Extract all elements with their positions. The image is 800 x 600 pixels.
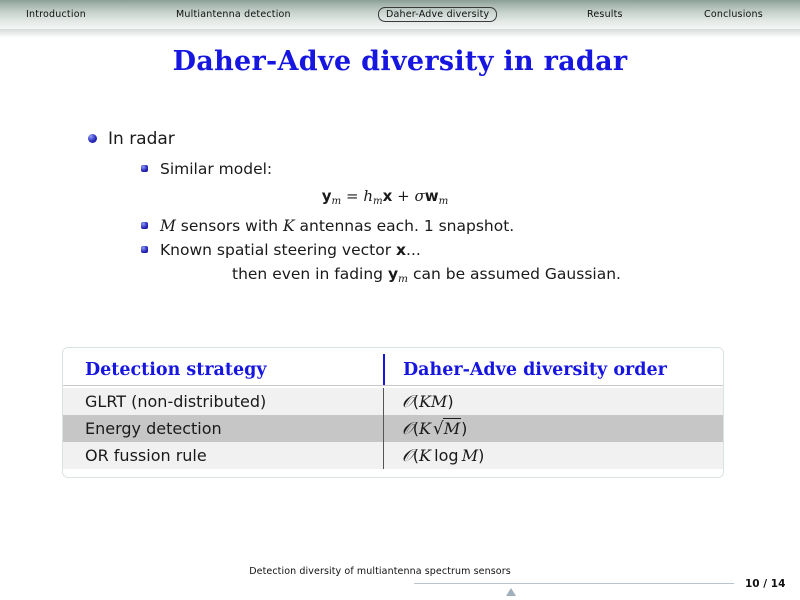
equation-lhs-var: y — [322, 187, 332, 205]
slide-content: In radar Similar model: ym = hmx + σwm M… — [0, 128, 800, 290]
sensors-mid-text: sensors with — [176, 217, 283, 235]
sensors-K-symbol: K — [283, 217, 295, 235]
continuation-pre-text: then even in fading — [232, 265, 388, 283]
table-row: OR fussion rule 𝒪(K log M) — [63, 442, 723, 469]
table-cell-strategy: GLRT (non-distributed) — [63, 392, 383, 411]
table-cell-strategy: Energy detection — [63, 419, 383, 438]
bullet-ball-icon — [88, 134, 97, 143]
footer-divider — [414, 583, 734, 584]
bullet-square-icon — [141, 246, 148, 253]
footer-subtitle: Detection diversity of multiantenna spec… — [0, 566, 800, 577]
equation-sigma: σ — [414, 187, 424, 205]
equation-lhs-sub: m — [332, 196, 342, 207]
big-o-symbol: 𝒪 — [402, 446, 413, 466]
nav-item-introduction[interactable]: Introduction — [22, 7, 90, 22]
order-paren-close: ) — [447, 392, 453, 411]
order-body: KM — [419, 392, 447, 411]
nav-item-conclusions[interactable]: Conclusions — [700, 7, 767, 22]
continuation-post-text: can be assumed Gaussian. — [408, 265, 621, 283]
nav-triangle-icon[interactable] — [506, 588, 516, 596]
equation-x-var: x — [383, 187, 393, 205]
equation-equals: = — [346, 187, 359, 205]
table-cell-order: 𝒪(K log M) — [384, 446, 723, 466]
order-K-symbol: K — [419, 419, 431, 438]
nav-item-daher-adve-diversity[interactable]: Daher-Adve diversity — [378, 7, 497, 22]
page-number: 10 / 14 — [745, 578, 785, 590]
steering-pre-text: Known spatial steering vector — [160, 241, 396, 259]
sensors-post-text: antennas each. 1 snapshot. — [295, 217, 515, 235]
steering-post-text: ... — [406, 241, 421, 259]
table-row: GLRT (non-distributed) 𝒪(KM) — [63, 388, 723, 415]
diversity-order-table: Detection strategy Daher-Adve diversity … — [62, 347, 724, 478]
order-M-symbol: M — [462, 446, 478, 465]
navigation-bar: Introduction Multiantenna detection Dahe… — [0, 0, 800, 29]
bullet-level1-label: In radar — [108, 129, 175, 149]
sqrt-group: √M — [431, 419, 461, 439]
table-header-diversity-order: Daher-Adve diversity order — [385, 360, 723, 380]
order-log-text: log — [434, 446, 458, 465]
steering-x-symbol: x — [396, 241, 406, 259]
continuation-y-symbol: y — [388, 265, 398, 283]
equation-w-sub: m — [439, 196, 449, 207]
bullet-level2-sensors: M sensors with K antennas each. 1 snapsh… — [0, 216, 800, 237]
nav-item-results[interactable]: Results — [583, 7, 627, 22]
equation-plus: + — [397, 187, 410, 205]
big-o-symbol: 𝒪 — [402, 392, 413, 412]
bullet-square-icon — [141, 222, 148, 229]
table-header-row: Detection strategy Daher-Adve diversity … — [63, 354, 723, 386]
table-header-detection-strategy: Detection strategy — [63, 360, 383, 380]
table-row: Energy detection 𝒪(K√M) — [63, 415, 723, 442]
continuation-line-gaussian: then even in fading ym can be assumed Ga… — [0, 264, 800, 290]
continuation-y-sub: m — [398, 273, 408, 285]
bullet-level1-in-radar: In radar — [0, 128, 800, 150]
sqrt-radicand: M — [443, 418, 461, 438]
equation-w-var: w — [425, 187, 439, 205]
big-o-symbol: 𝒪 — [402, 419, 413, 439]
order-paren-close: ) — [461, 419, 467, 438]
equation-signal-model: ym = hmx + σwm — [0, 187, 800, 207]
table-cell-order: 𝒪(KM) — [384, 392, 723, 412]
bullet-level2-label: Similar model: — [160, 160, 272, 178]
navbar-shadow — [0, 29, 800, 38]
bullet-square-icon — [141, 165, 148, 172]
bullet-level2-steering-vector: Known spatial steering vector x... — [0, 240, 800, 261]
equation-h-var: h — [363, 187, 373, 205]
order-K-symbol: K — [419, 446, 431, 465]
bullet-level2-similar-model: Similar model: — [0, 159, 800, 180]
slide-title: Daher-Adve diversity in radar — [0, 46, 800, 77]
sensors-M-symbol: M — [160, 217, 176, 235]
order-paren-close: ) — [478, 446, 484, 465]
nav-item-multiantenna-detection[interactable]: Multiantenna detection — [172, 7, 295, 22]
table-cell-order: 𝒪(K√M) — [384, 419, 723, 439]
table-cell-strategy: OR fussion rule — [63, 446, 383, 465]
equation-h-sub: m — [373, 196, 383, 207]
